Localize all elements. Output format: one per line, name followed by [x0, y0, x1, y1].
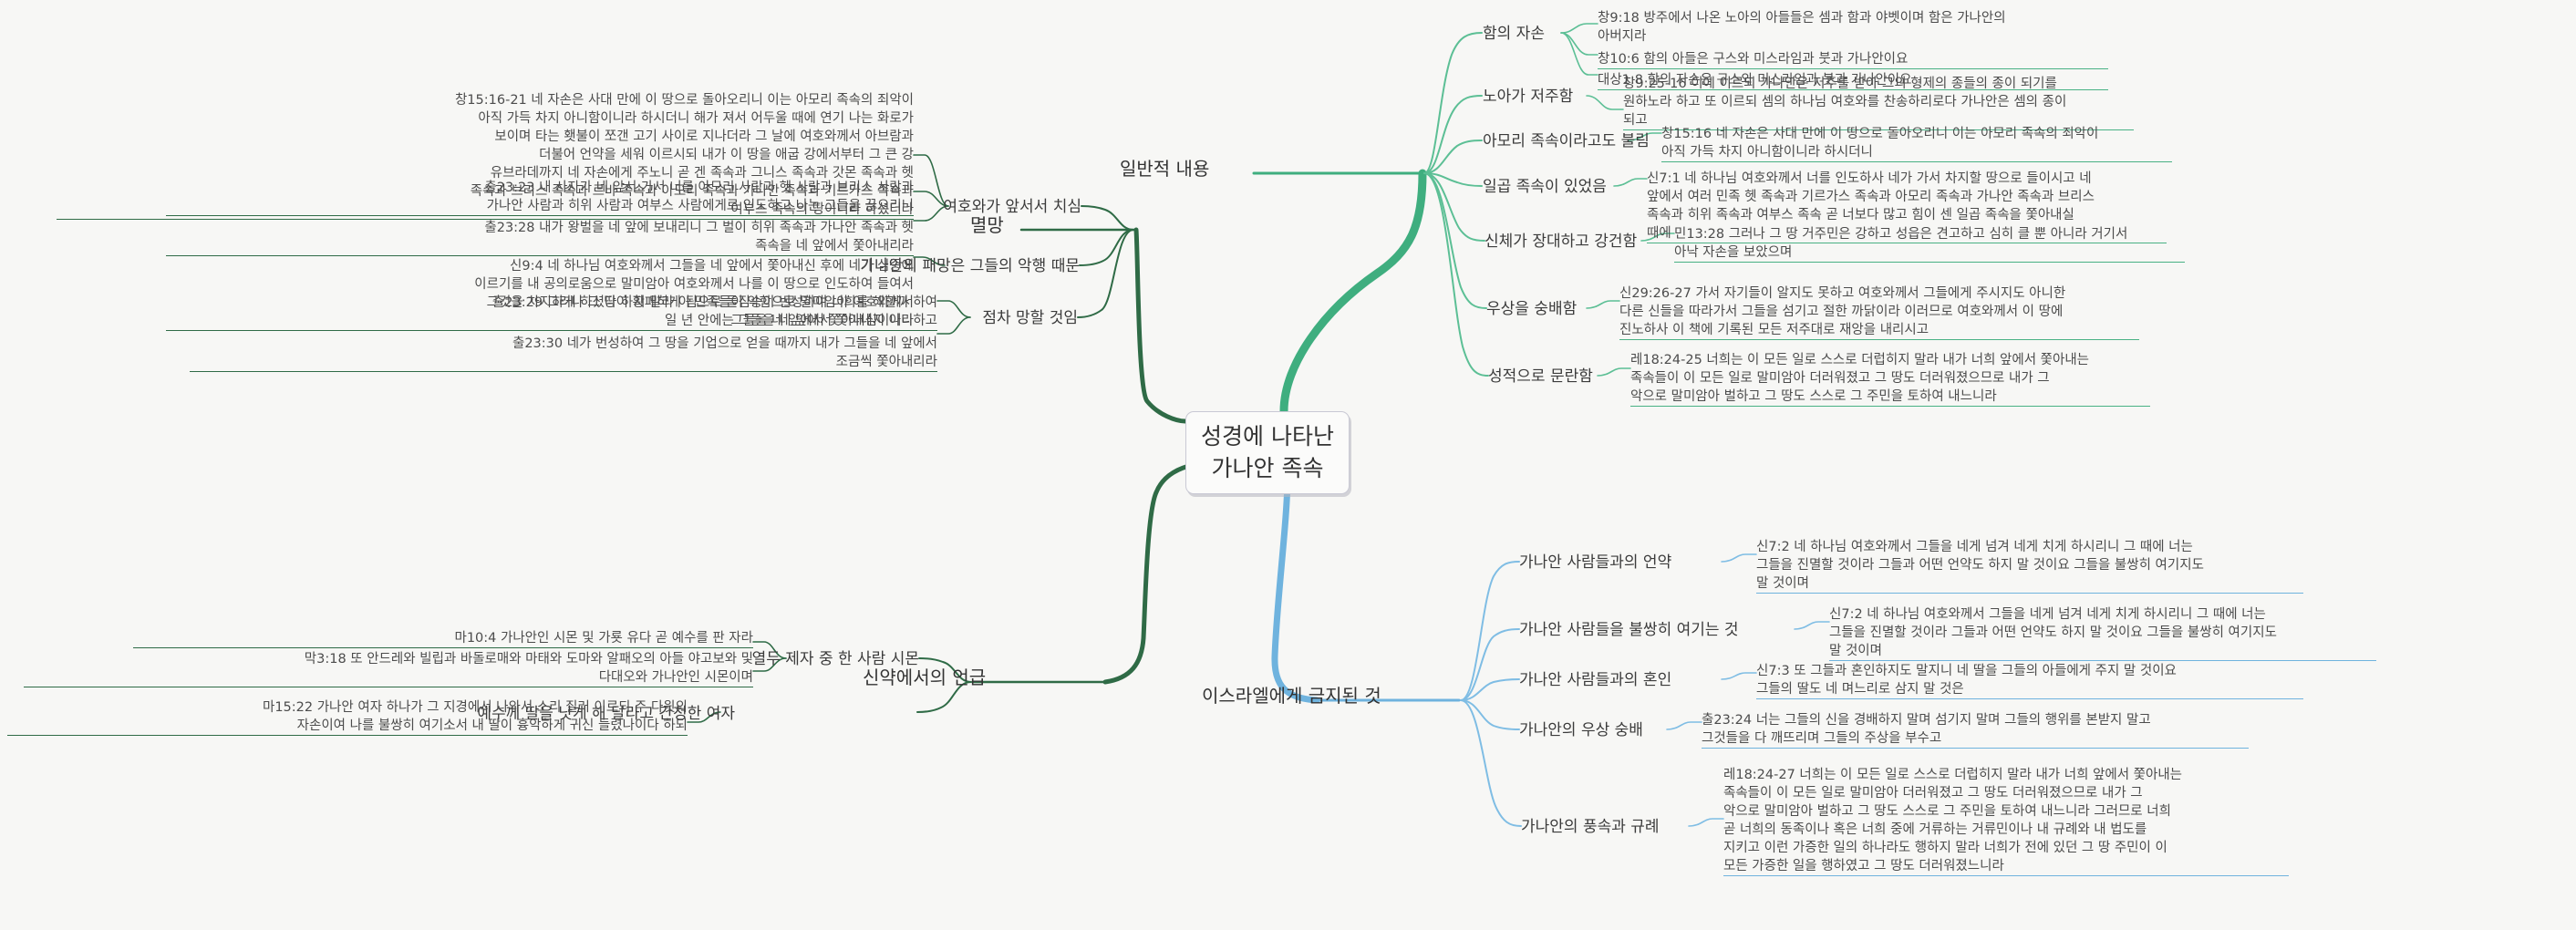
- topic-label-noah-curse[interactable]: 노아가 저주함: [1483, 87, 1573, 108]
- topic-label-ham-descendants[interactable]: 함의 자손: [1483, 24, 1545, 45]
- leaf-text[interactable]: 신7:2 네 하나님 여호와께서 그들을 네게 넘겨 네게 치게 하시리니 그 …: [1829, 605, 2376, 661]
- leaf-text[interactable]: 창9:25-16 이에 이르되 가나안은 저주를 받아 그의 형제의 종들의 종…: [1623, 75, 2134, 130]
- leaf-text[interactable]: 신7:2 네 하나님 여호와께서 그들을 네게 넘겨 네게 치게 하시리니 그 …: [1756, 538, 2303, 594]
- leaf-text[interactable]: 레18:24-27 너희는 이 모든 일로 스스로 더럽히지 말라 내가 너희 …: [1723, 766, 2289, 876]
- leaf-text[interactable]: 마10:4 가나안인 시몬 및 가룟 유다 곧 예수를 판 자라: [133, 629, 753, 648]
- topic-label-amorite-name[interactable]: 아모리 족속이라고도 불림: [1483, 131, 1650, 152]
- leaf-text[interactable]: 레18:24-25 너희는 이 모든 일로 스스로 더럽히지 말라 내가 너희 …: [1630, 351, 2150, 407]
- leaf-text[interactable]: 창10:6 함의 아들은 구스와 미스라임과 붓과 가나안이요: [1598, 50, 2108, 69]
- leaf-text[interactable]: 출23:28 내가 왕벌을 네 앞에 보내리니 그 벌이 히위 족속과 가나안 …: [166, 219, 914, 256]
- branch-label-general[interactable]: 일반적 내용: [1120, 157, 1209, 182]
- leaf-text[interactable]: 창15:16 네 자손은 사대 만에 이 땅으로 돌아오리니 이는 아모리 족속…: [1661, 125, 2172, 162]
- central-node[interactable]: 성경에 나타난 가나안 족속: [1185, 411, 1350, 494]
- topic-label-marriage-with-canaanites[interactable]: 가나안 사람들과의 혼인: [1519, 670, 1671, 691]
- leaf-text[interactable]: 신29:26-27 가서 자기들이 알지도 못하고 여호와께서 그들에게 주시지…: [1619, 284, 2139, 340]
- mindmap-canvas: 성경에 나타난 가나안 족속 일반적 내용 함의 자손 창9:18 방주에서 나…: [0, 0, 2576, 930]
- leaf-text[interactable]: 민13:28 그러나 그 땅 거주민은 강하고 성읍은 견고하고 심히 클 뿐 …: [1674, 225, 2185, 263]
- leaf-text[interactable]: 신7:3 또 그들과 혼인하지도 말지니 네 딸을 그들의 아들에게 주지 말 …: [1756, 662, 2303, 699]
- leaf-text[interactable]: 출23:23 내 사자가 네 앞서 가서 너를 아모리 사람과 헷 사람과 브리…: [166, 179, 914, 216]
- topic-label-strong-bodies[interactable]: 신체가 장대하고 강건함: [1485, 232, 1637, 253]
- leaf-text[interactable]: 창9:18 방주에서 나온 노아의 아들들은 셈과 함과 야벳이며 함은 가나안…: [1598, 9, 2108, 46]
- topic-label-sexual-immorality[interactable]: 성적으로 문란함: [1488, 367, 1593, 387]
- leaf-text[interactable]: 출23:24 너는 그들의 신을 경배하지 말며 섬기지 말며 그들의 행위를 …: [1702, 711, 2249, 749]
- leaf-text[interactable]: 마15:22 가나안 여자 하나가 그 지경에서 나와서 소리 질러 이르되 주…: [7, 698, 688, 736]
- topic-label-covenant-with-canaanites[interactable]: 가나안 사람들과의 언약: [1519, 553, 1671, 573]
- topic-label-idol-worship[interactable]: 우상을 숭배함: [1486, 299, 1577, 320]
- topic-label-pity-canaanites[interactable]: 가나안 사람들을 불쌍히 여기는 것: [1519, 620, 1739, 641]
- leaf-text[interactable]: 출23:29 그러나 그 땅이 황폐하게 됨으로 들짐승이 번성하여 너희를 해…: [190, 294, 937, 331]
- branch-label-forbidden[interactable]: 이스라엘에게 금지된 것: [1202, 684, 1381, 709]
- topic-label-seven-tribes[interactable]: 일곱 족속이 있었음: [1483, 177, 1607, 198]
- topic-label-canaanite-idolatry[interactable]: 가나안의 우상 숭배: [1519, 720, 1643, 741]
- topic-label-canaanite-customs[interactable]: 가나안의 풍속과 규례: [1521, 817, 1660, 838]
- leaf-text[interactable]: 출23:30 네가 번성하여 그 땅을 기업으로 얻을 때까지 내가 그들을 네…: [190, 335, 937, 372]
- topic-label-gradual-ruin[interactable]: 점차 망할 것임: [941, 308, 1078, 329]
- leaf-text[interactable]: 막3:18 또 안드레와 빌립과 바돌로매와 마태와 도마와 알패오의 아들 야…: [24, 650, 753, 687]
